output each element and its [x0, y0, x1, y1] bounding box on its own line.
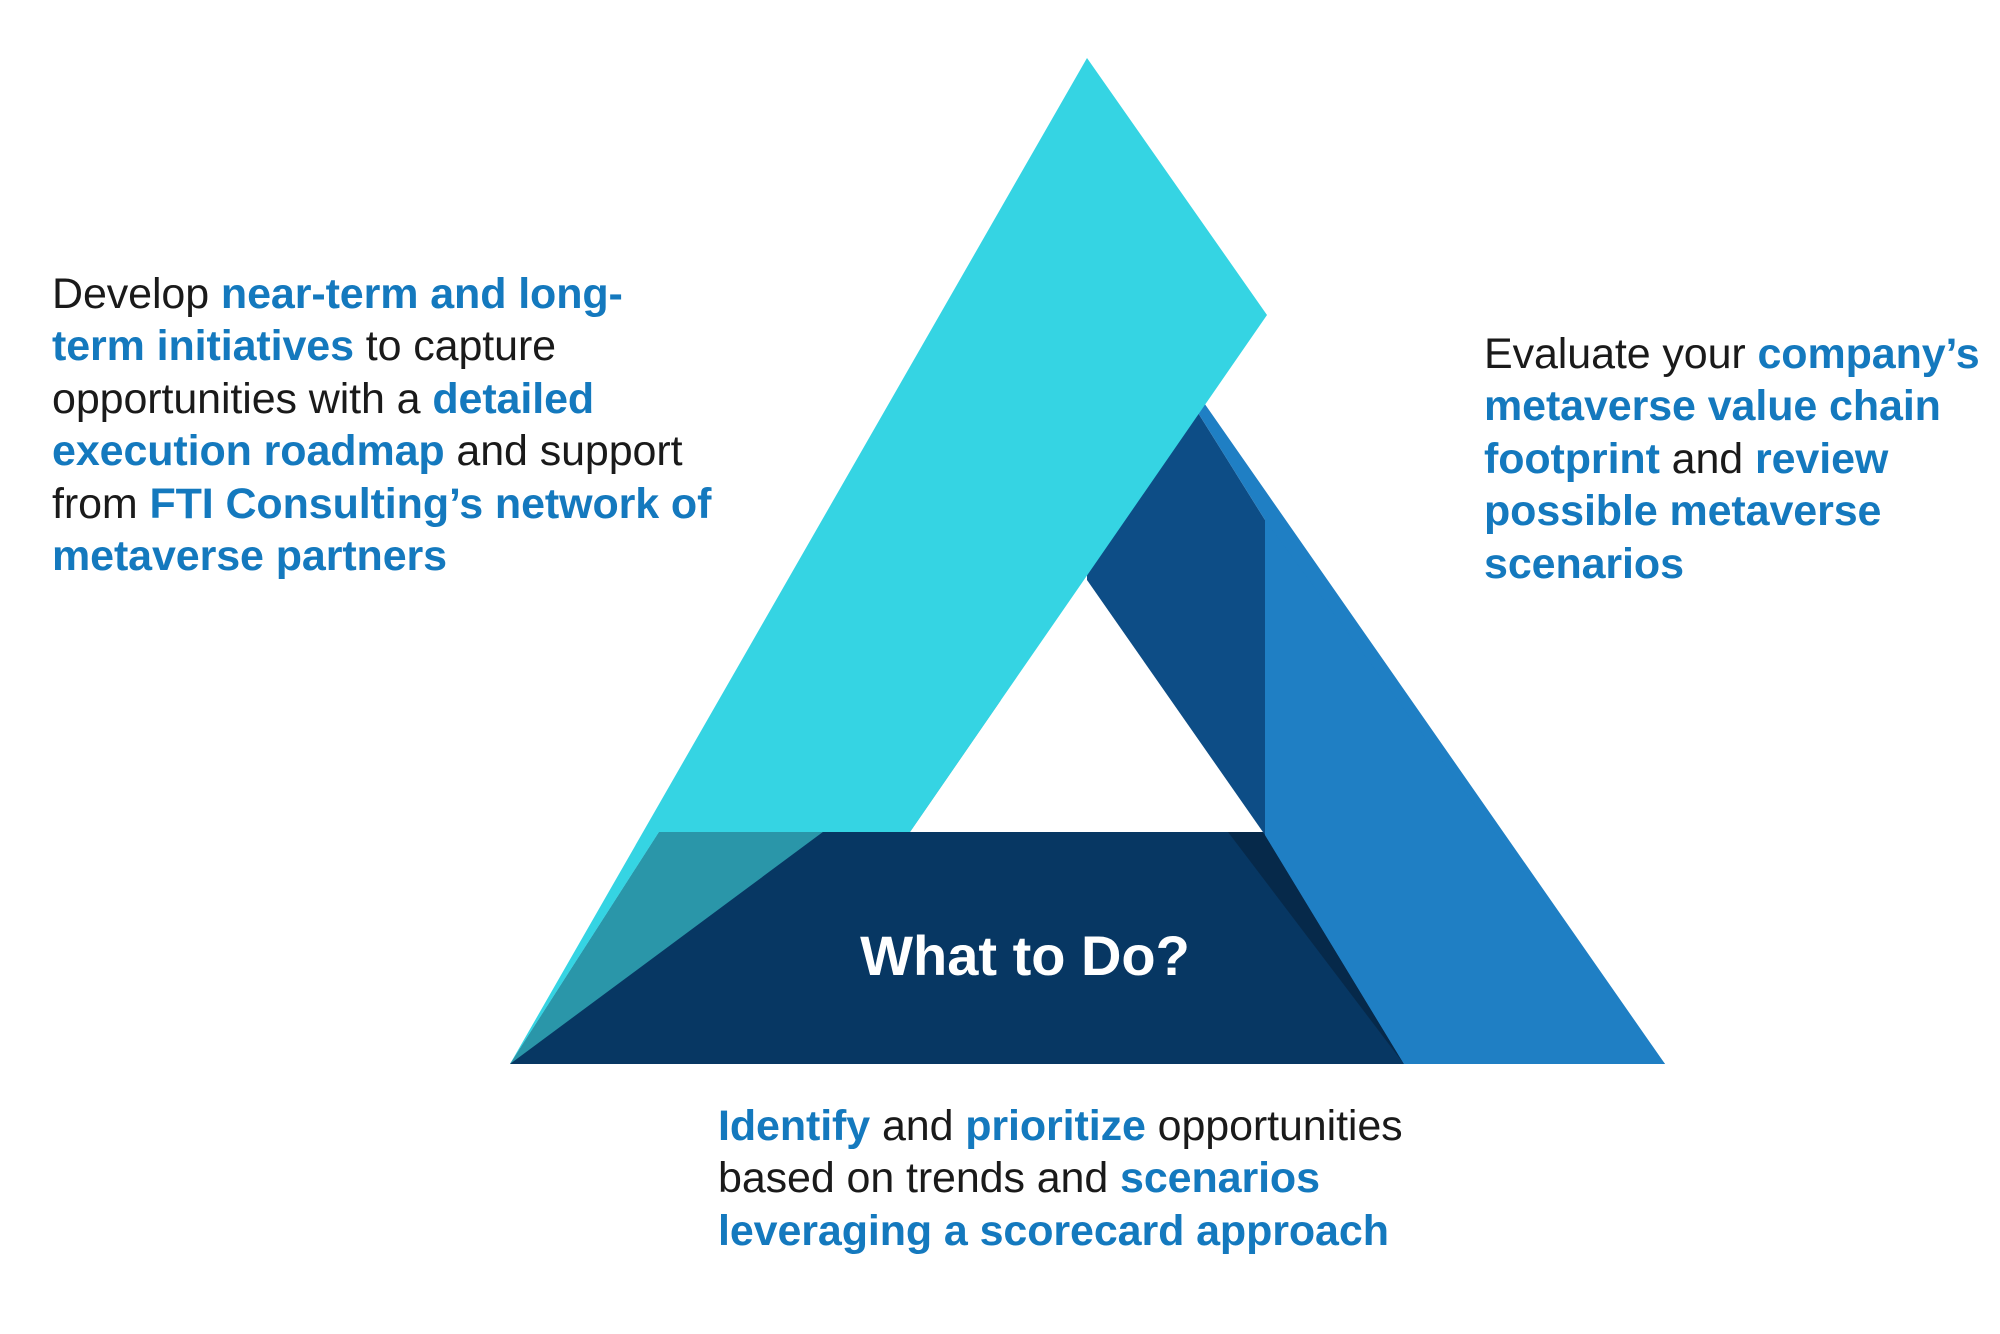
emphasis-text: FTI Consulting’s network of metaverse pa… — [52, 480, 711, 580]
callout-what-to-do: Identify and prioritize opportunities ba… — [718, 1100, 1478, 1257]
band-label-what-to-do: What to Do? — [860, 924, 1190, 987]
emphasis-text: Identify — [718, 1102, 870, 1150]
emphasis-text: prioritize — [965, 1102, 1146, 1150]
callout-how-to-win: Develop near-term and long-term initiati… — [52, 268, 712, 583]
diagram-canvas: How to Win? Where to Play? What to Do? D… — [0, 0, 2000, 1334]
callout-where-to-play: Evaluate your company’s metaverse value … — [1484, 328, 1984, 590]
plain-text: Evaluate your — [1484, 330, 1757, 378]
plain-text: and — [870, 1102, 965, 1150]
plain-text: and — [1660, 435, 1755, 483]
plain-text: Develop — [52, 270, 221, 318]
